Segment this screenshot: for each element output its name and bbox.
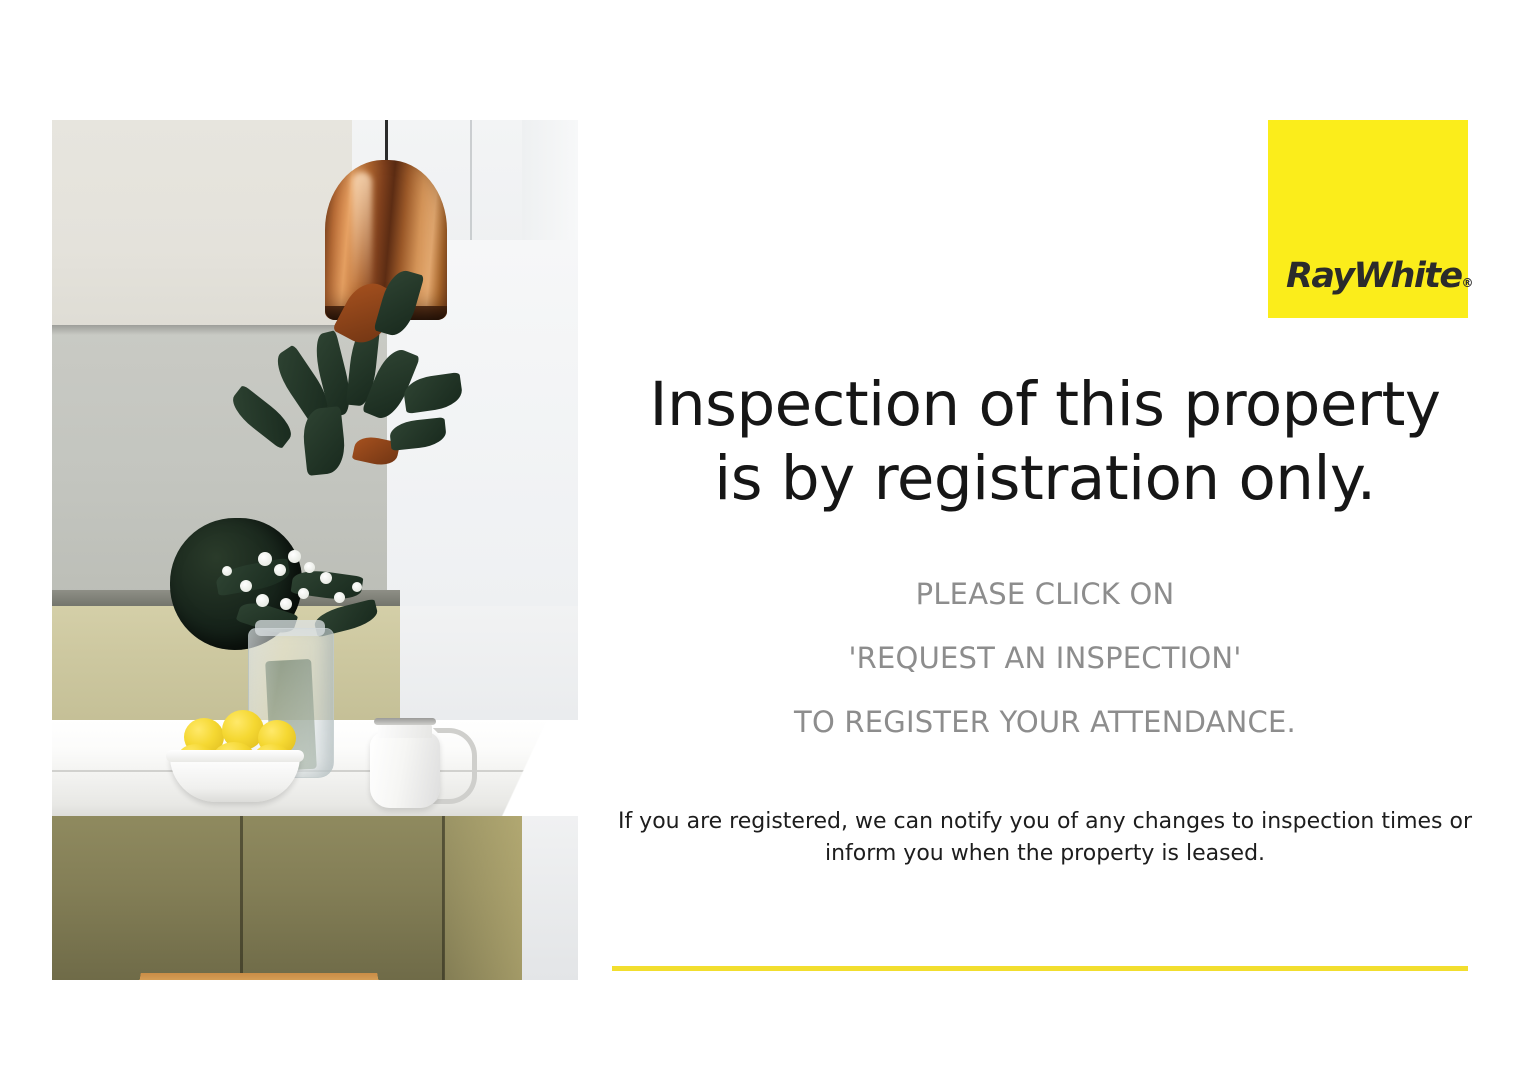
white-blossom bbox=[256, 594, 269, 607]
page-title: Inspection of this property is by regist… bbox=[615, 368, 1475, 517]
body-text: If you are registered, we can notify you… bbox=[615, 806, 1475, 870]
ray-white-logo-text: RayWhite® bbox=[1286, 256, 1474, 296]
island-door-seam bbox=[240, 816, 243, 980]
white-blossom bbox=[288, 550, 301, 563]
ray-white-logo[interactable]: RayWhite® bbox=[1268, 120, 1468, 318]
yellow-divider bbox=[612, 966, 1468, 971]
white-blossom bbox=[320, 572, 332, 584]
vase-neck bbox=[255, 620, 325, 636]
white-blossom bbox=[298, 588, 309, 599]
instruction-line-1: PLEASE CLICK ON bbox=[615, 580, 1475, 609]
lower-right-panel bbox=[400, 606, 578, 736]
instruction-line-2: 'REQUEST AN INSPECTION' bbox=[615, 644, 1475, 673]
white-blossom bbox=[280, 598, 292, 610]
benchtop-corner bbox=[482, 720, 578, 820]
white-blossom bbox=[274, 564, 286, 576]
jug-lip bbox=[374, 718, 436, 725]
white-blossom bbox=[304, 562, 315, 573]
pendant-highlight bbox=[352, 172, 372, 292]
island-light-panel bbox=[444, 816, 522, 980]
inspection-poster: RayWhite® Inspection of this property is… bbox=[0, 0, 1529, 1080]
ceramic-jug bbox=[370, 732, 440, 808]
headline-line-1: Inspection of this property bbox=[615, 368, 1475, 442]
instructions-block: PLEASE CLICK ON 'REQUEST AN INSPECTION' … bbox=[615, 580, 1475, 737]
lemon-bowl-rim bbox=[166, 750, 304, 762]
timber-stool-seat bbox=[135, 973, 383, 980]
white-blossom bbox=[240, 580, 252, 592]
headline-line-2: is by registration only. bbox=[615, 442, 1475, 516]
brand-name: RayWhite bbox=[1286, 256, 1462, 296]
island-door-seam bbox=[442, 816, 445, 980]
white-blossom bbox=[258, 552, 272, 566]
kitchen-photo bbox=[52, 120, 578, 980]
white-blossom bbox=[352, 582, 362, 592]
registered-trademark-icon: ® bbox=[1462, 276, 1474, 290]
floor bbox=[522, 816, 578, 980]
instruction-line-3: TO REGISTER YOUR ATTENDANCE. bbox=[615, 708, 1475, 737]
white-blossom bbox=[334, 592, 345, 603]
pendant-cord bbox=[385, 120, 388, 164]
white-blossom bbox=[222, 566, 232, 576]
